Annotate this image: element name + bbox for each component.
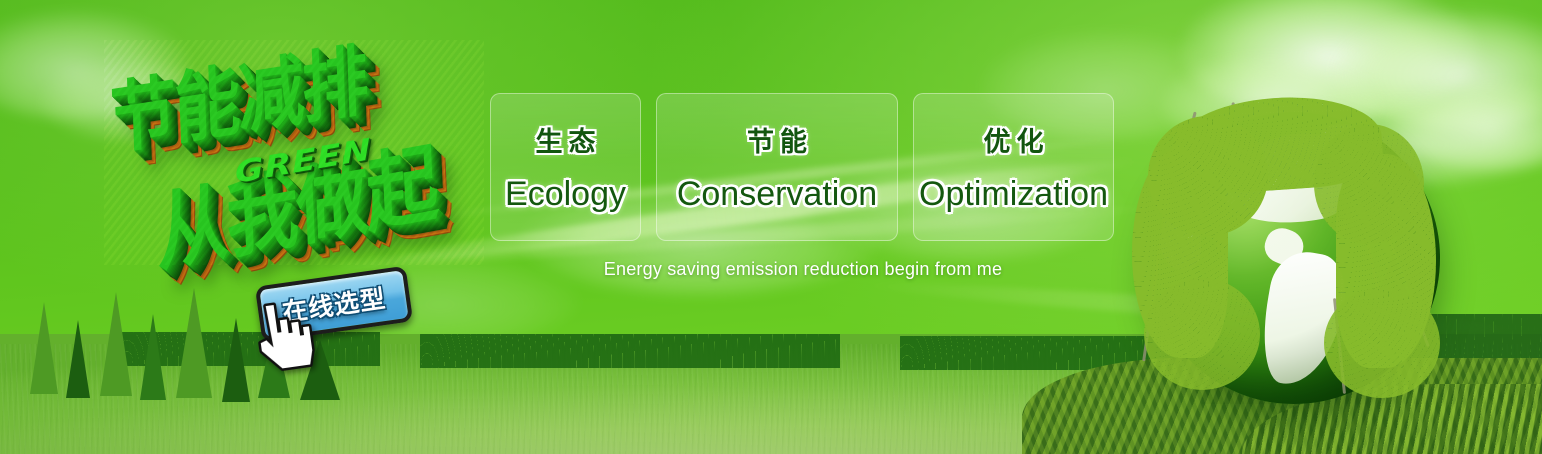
feature-card-ecology-en: Ecology: [505, 175, 626, 214]
conifer-tree-icon: [420, 334, 840, 368]
conifer-tree-icon: [100, 292, 132, 396]
feature-card-conservation-en: Conservation: [677, 175, 877, 214]
feature-card-optimization-en: Optimization: [919, 175, 1108, 214]
online-selection-cta[interactable]: 在线选型: [258, 276, 418, 348]
hand-pointer-icon: [243, 293, 323, 378]
feature-card-ecology[interactable]: 生态 Ecology: [490, 93, 641, 241]
feature-card-optimization[interactable]: 优化 Optimization: [913, 93, 1114, 241]
banner-tagline: Energy saving emission reduction begin f…: [490, 259, 1116, 280]
globe-shading: [1148, 112, 1440, 404]
conifer-tree-icon: [140, 314, 166, 400]
feature-card-optimization-cn: 优化: [978, 120, 1050, 159]
conifer-tree-icon: [222, 318, 250, 402]
headline-3d-art: 节能减排 从我做起 GREEN: [104, 40, 484, 265]
feature-card-ecology-cn: 生态: [530, 120, 602, 159]
feature-card-conservation-cn: 节能: [741, 120, 813, 159]
globe-sphere: [1148, 112, 1440, 404]
leafy-globe-icon: [1148, 112, 1440, 404]
feature-card-group: 生态 Ecology 节能 Conservation 优化 Optimizati…: [490, 93, 1116, 241]
feature-card-conservation[interactable]: 节能 Conservation: [656, 93, 898, 241]
conifer-tree-icon: [66, 320, 90, 398]
conifer-tree-icon: [30, 302, 58, 394]
green-eco-banner: 节能减排 从我做起 GREEN 在线选型 生态 Ecology 节能 Conse…: [0, 0, 1542, 454]
conifer-tree-icon: [176, 288, 212, 398]
cloud-icon: [1180, 0, 1480, 120]
